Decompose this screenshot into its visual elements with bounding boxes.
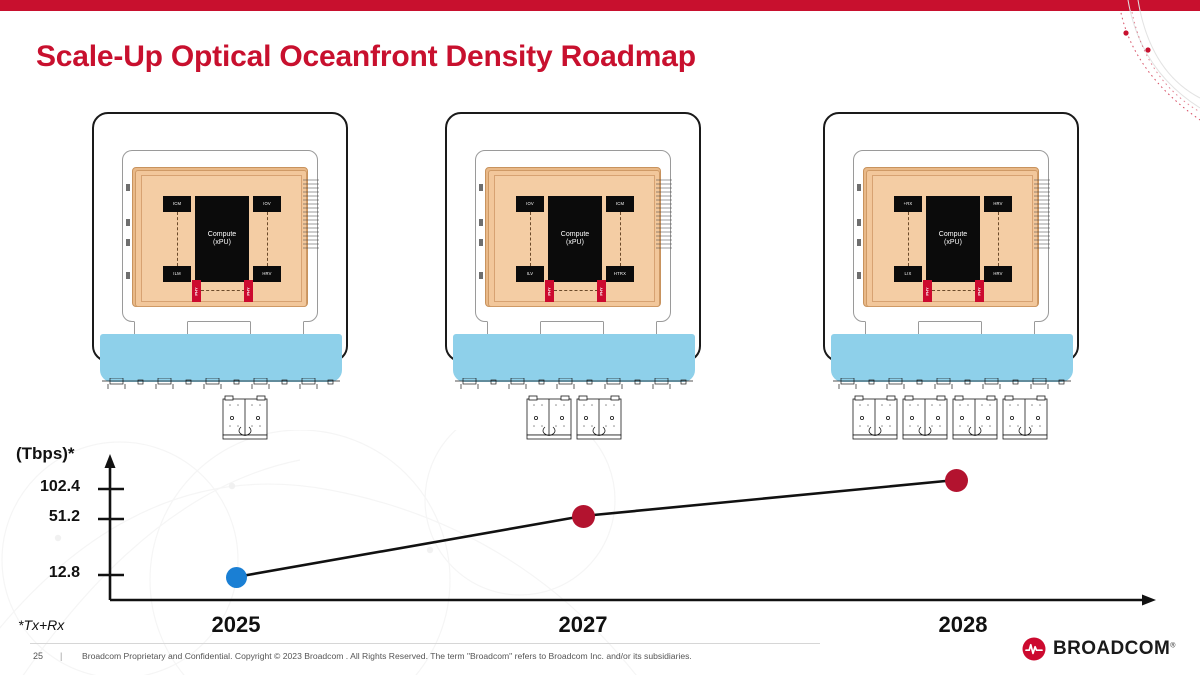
phy-tab-left: PHY (923, 280, 932, 302)
compute-die-label-2: (xPU) (213, 239, 231, 247)
optical-module (1001, 394, 1049, 440)
edge-pad (857, 239, 861, 246)
fiber-comb-icon (656, 177, 672, 253)
optical-module-group (221, 394, 269, 440)
data-point-2028 (945, 469, 968, 492)
broadcom-logo-text: BROADCOM (1053, 638, 1170, 659)
io-block-bottom-right: HRV (253, 266, 281, 282)
broadcom-wordmark: BROADCOM® (1053, 638, 1175, 660)
phy-tab-left: PHY (192, 280, 201, 302)
optical-module (575, 394, 623, 440)
io-block-top-left: IOV (516, 196, 544, 212)
compute-die: Compute (xPU) (195, 196, 249, 282)
registered-mark: ® (1170, 643, 1175, 650)
trace-right (620, 212, 621, 266)
optical-module (901, 394, 949, 440)
io-block-top-right: IOV (253, 196, 281, 212)
x-tick-label-2025: 2025 (176, 612, 296, 638)
edge-pad (479, 184, 483, 191)
page-title: Scale-Up Optical Oceanfront Density Road… (36, 40, 696, 74)
compute-die-label-1: Compute (208, 231, 236, 239)
optical-module-group (851, 394, 1049, 440)
compute-die-label-2: (xPU) (566, 239, 584, 247)
data-point-2025 (226, 567, 247, 588)
phy-tab-right: PHY (975, 280, 984, 302)
optical-module (525, 394, 573, 440)
trace-right (267, 212, 268, 266)
io-block-bottom-left: ILM (163, 266, 191, 282)
optical-module-group (525, 394, 623, 440)
trace-left (908, 212, 909, 266)
fiber-comb-icon (1034, 177, 1050, 253)
trace-left (530, 212, 531, 266)
edge-pad (479, 272, 483, 279)
phy-tab-left: PHY (545, 280, 554, 302)
edge-pad (857, 184, 861, 191)
data-point-2027 (572, 505, 595, 528)
edge-pad (479, 219, 483, 226)
x-tick-label-2027: 2027 (523, 612, 643, 638)
board-region (100, 334, 342, 382)
phy-tab-right: PHY (244, 280, 253, 302)
edge-pad (479, 239, 483, 246)
footer-separator: | (60, 651, 62, 661)
top-accent-bar (0, 0, 1200, 11)
optical-module (851, 394, 899, 440)
fiber-comb-icon (303, 177, 319, 253)
io-block-bottom-right: HTRX (606, 266, 634, 282)
edge-pad (857, 219, 861, 226)
trace-bottom (554, 290, 598, 291)
edge-pad (126, 219, 130, 226)
board-region (453, 334, 695, 382)
package-diagram-2027: IOV ICM ILV HTRX Compute (xPU) PHY PHY (445, 112, 701, 452)
io-block-top-left: ICM (163, 196, 191, 212)
io-block-bottom-left: ILV (516, 266, 544, 282)
board-connector-strip (102, 378, 340, 390)
roadmap-line-chart (0, 440, 1200, 640)
compute-die: Compute (xPU) (926, 196, 980, 282)
io-block-bottom-left: LIX (894, 266, 922, 282)
edge-pad (126, 184, 130, 191)
io-block-top-left: +RX (894, 196, 922, 212)
package-diagram-2028: +RX HRV LIX HRV Compute (xPU) PHY PHY (823, 112, 1079, 452)
compute-die: Compute (xPU) (548, 196, 602, 282)
compute-die-label-1: Compute (939, 231, 967, 239)
footer-divider (30, 643, 820, 644)
edge-pad (857, 272, 861, 279)
trace-bottom (932, 290, 976, 291)
package-diagram-2025: ICM IOV ILM HRV Compute (xPU) PHY PHY (92, 112, 348, 452)
broadcom-logo: BROADCOM® (1022, 637, 1175, 661)
board-connector-strip (455, 378, 693, 390)
compute-die-label-2: (xPU) (944, 239, 962, 247)
board-connector-strip (833, 378, 1071, 390)
io-block-top-right: HRV (984, 196, 1012, 212)
io-block-bottom-right: HRV (984, 266, 1012, 282)
phy-tab-right: PHY (597, 280, 606, 302)
trace-left (177, 212, 178, 266)
edge-pad (126, 272, 130, 279)
io-block-top-right: ICM (606, 196, 634, 212)
page-number: 25 (33, 651, 43, 661)
x-tick-label-2028: 2028 (903, 612, 1023, 638)
optical-module (221, 394, 269, 440)
board-region (831, 334, 1073, 382)
compute-die-label-1: Compute (561, 231, 589, 239)
optical-module (951, 394, 999, 440)
chart-footnote: *Tx+Rx (18, 617, 64, 633)
trace-bottom (201, 290, 245, 291)
edge-pad (126, 239, 130, 246)
copyright-notice: Broadcom Proprietary and Confidential. C… (82, 651, 692, 661)
trace-right (998, 212, 999, 266)
broadcom-mark-icon (1022, 637, 1046, 661)
